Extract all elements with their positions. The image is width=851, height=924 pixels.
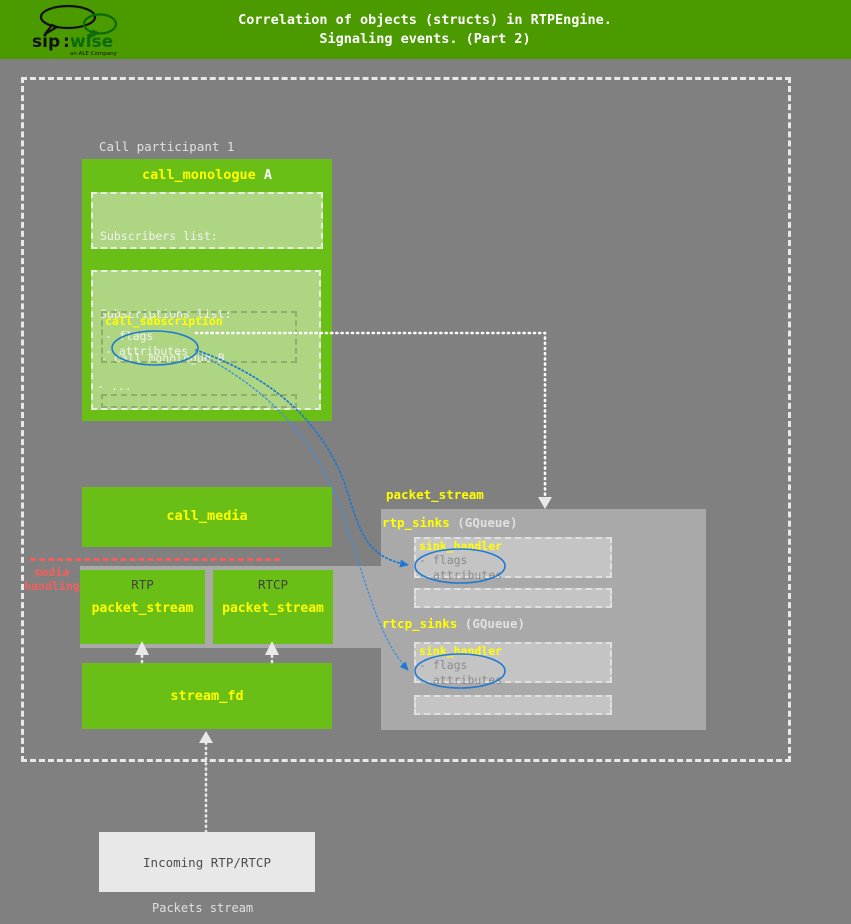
subscriptions-list-panel: Subscriptions list: - call monologue B c… [91, 270, 321, 410]
call-subscription-title: call_subscription [105, 314, 223, 329]
title-line-2: Signaling events. (Part 2) [150, 30, 700, 49]
field-attributes: - attributes [419, 673, 502, 687]
rtcp-sinks-name: rtcp_sinks [382, 616, 457, 631]
svg-text:an ALE Company: an ALE Company [70, 51, 118, 56]
rtp-sink-handler-fields: - flags - attributes [419, 553, 502, 582]
rtp-sinks-type: (GQueue) [457, 515, 517, 530]
subscriptions-ellipsis-item: - ... [97, 379, 132, 394]
rtp-struct-label: packet_stream [80, 601, 205, 616]
call-participant-label: Call participant 1 [99, 139, 234, 154]
field-flags: - flags [419, 553, 467, 567]
page-title: Correlation of objects (structs) in RTPE… [150, 11, 700, 49]
call-monologue-a-suffix: A [264, 167, 272, 183]
rtcp-sink-handler-title: sink_handler [419, 644, 502, 658]
stream-fd-box: stream_fd [82, 663, 332, 729]
field-attributes: - attributes [419, 568, 502, 582]
call-monologue-a-name: call_monologue [142, 167, 256, 183]
call-media-label: call_media [82, 508, 332, 524]
rtcp-kind-label: RTCP [213, 577, 333, 592]
call-media-box: call_media [82, 487, 332, 547]
rtcp-sinks-type: (GQueue) [465, 616, 525, 631]
sipwise-logo: sip : wise an ALE Company [30, 4, 128, 56]
field-flags: - flags [105, 329, 153, 343]
packet-stream-panel: rtp_sinks (GQueue) sink_handler - flags … [381, 509, 706, 730]
title-line-1: Correlation of objects (structs) in RTPE… [150, 11, 700, 30]
stream-fd-label: stream_fd [82, 688, 332, 704]
rtp-sinks-empty-slot [414, 588, 612, 608]
call-subscription-fields: - flags - attributes [105, 329, 188, 358]
subscribers-list-panel: Subscribers list: - call_monologue B - .… [91, 192, 323, 249]
incoming-label: Incoming RTP/RTCP [143, 855, 271, 870]
svg-text::: : [63, 32, 70, 52]
svg-text:wise: wise [70, 32, 113, 52]
rtcp-sinks-queue-title: rtcp_sinks (GQueue) [382, 616, 525, 631]
rtp-kind-label: RTP [80, 577, 205, 592]
rtp-sinks-name: rtp_sinks [382, 515, 450, 530]
rtcp-sink-handler-fields: - flags - attributes [419, 658, 502, 687]
svg-text:sip: sip [32, 32, 60, 52]
rtcp-sinks-empty-slot [414, 695, 612, 715]
subscription-placeholder-box [101, 394, 297, 408]
packet-stream-panel-title: packet_stream [386, 487, 484, 502]
media-handling-label: media handling [22, 565, 82, 593]
rtp-packet-stream-box: RTP packet_stream [80, 570, 205, 644]
call-monologue-a-title: call_monologue A [82, 167, 332, 183]
rtcp-packet-stream-box: RTCP packet_stream [213, 570, 333, 644]
packets-stream-caption: Packets stream [152, 901, 253, 915]
field-flags: - flags [419, 658, 467, 672]
field-attributes: - attributes [105, 344, 188, 358]
media-handling-divider [30, 558, 280, 561]
media-handling-line-2: handling [22, 579, 82, 593]
rtp-sinks-queue-title: rtp_sinks (GQueue) [382, 515, 517, 530]
page-header: sip : wise an ALE Company Correlation of… [0, 0, 851, 59]
incoming-rtp-rtcp-box: Incoming RTP/RTCP [99, 832, 315, 892]
rtp-sink-handler-title: sink_handler [419, 539, 502, 553]
rtcp-struct-label: packet_stream [213, 601, 333, 616]
subscribers-heading: Subscribers list: [100, 229, 314, 244]
media-handling-line-1: media [22, 565, 82, 579]
